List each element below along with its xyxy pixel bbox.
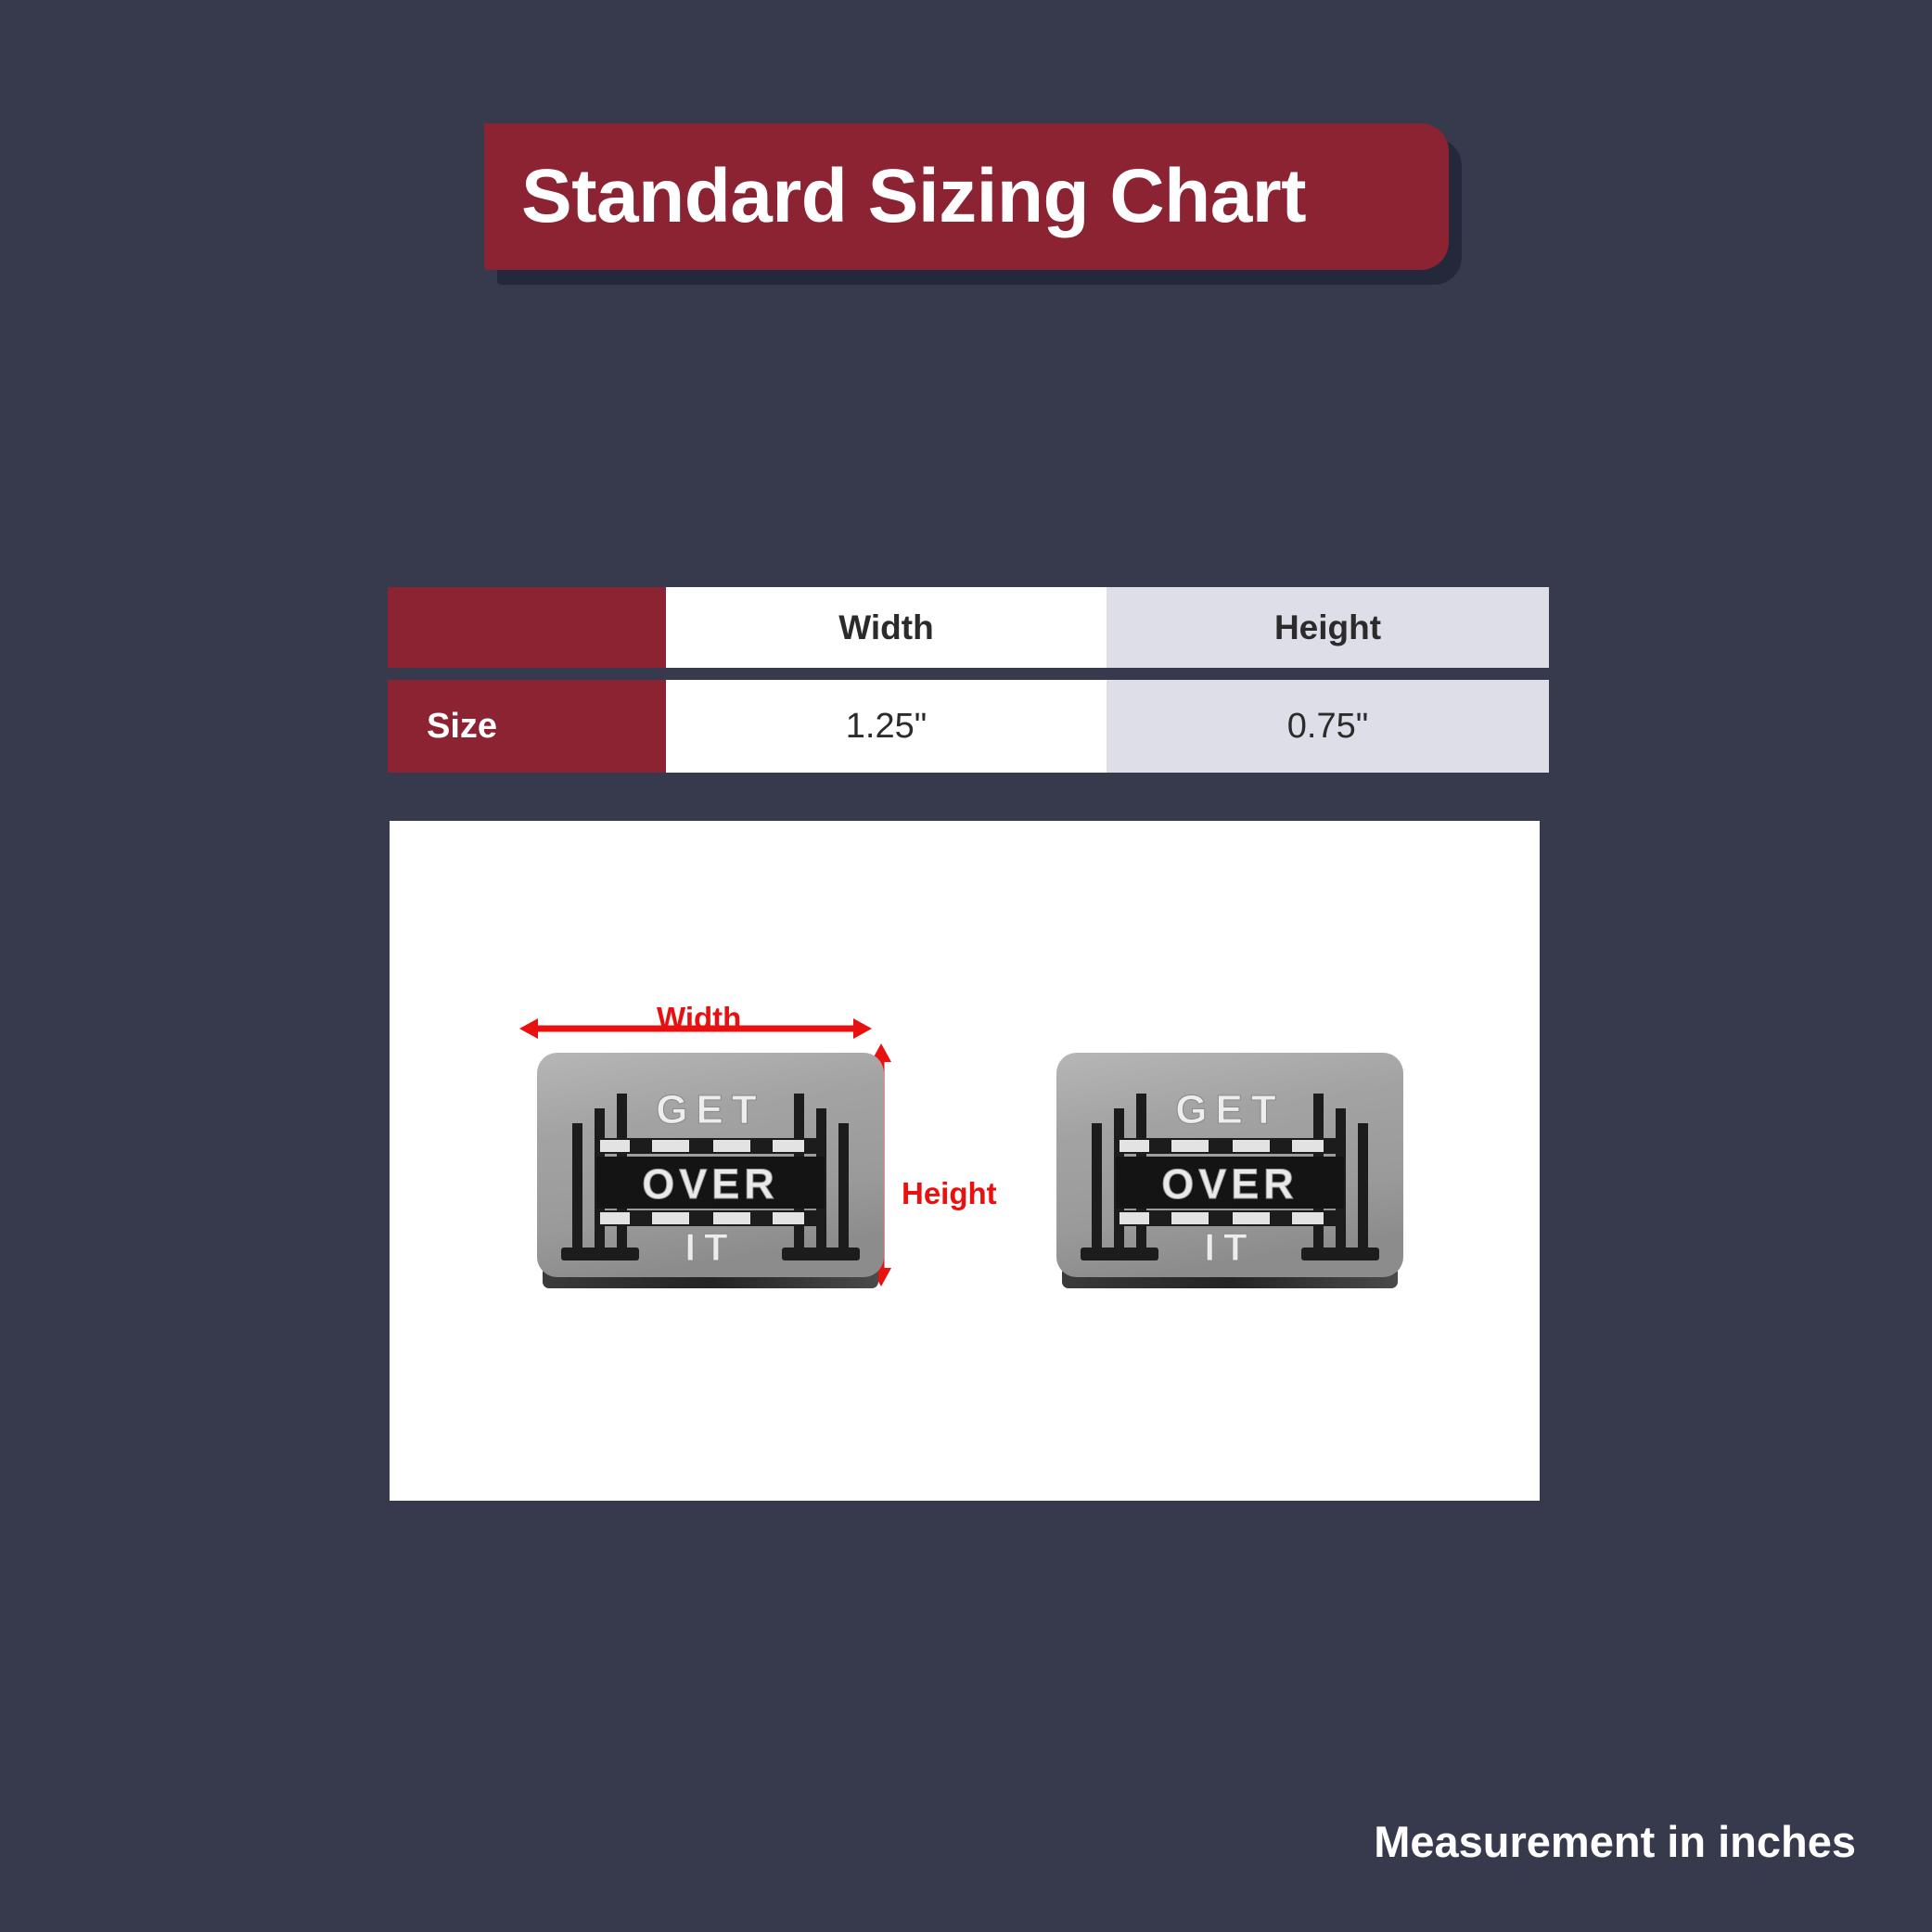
cell-size-height: 0.75" (1107, 680, 1549, 773)
svg-text:GET: GET (1175, 1087, 1284, 1132)
table-row: Size 1.25" 0.75" (388, 680, 1549, 773)
sizing-chart-page: Standard Sizing Chart Width Height Size … (0, 0, 1932, 1932)
svg-text:OVER: OVER (642, 1160, 779, 1208)
table-header-row: Width Height (388, 587, 1549, 668)
measurement-unit-note: Measurement in inches (1374, 1816, 1856, 1867)
svg-text:IT: IT (685, 1225, 736, 1269)
svg-text:GET: GET (656, 1087, 764, 1132)
title-banner: Standard Sizing Chart (484, 123, 1449, 270)
product-image-panel: Width Height (390, 821, 1540, 1501)
svg-text:IT: IT (1204, 1225, 1255, 1269)
height-annotation-label: Height (902, 1178, 997, 1209)
table-corner-cell (388, 587, 666, 668)
product-pin-right: GET OVER IT (1053, 1051, 1407, 1297)
cell-size-width: 1.25" (666, 680, 1107, 773)
column-header-width: Width (666, 587, 1107, 668)
table-row-divider (388, 668, 1549, 680)
sizing-table: Width Height Size 1.25" 0.75" (388, 587, 1549, 773)
width-dimension-arrow (519, 1012, 872, 1045)
product-pin-left: GET OVER IT (533, 1051, 888, 1297)
row-label-size: Size (388, 680, 666, 773)
column-header-height: Height (1107, 587, 1549, 668)
svg-text:OVER: OVER (1161, 1160, 1299, 1208)
page-title: Standard Sizing Chart (521, 159, 1306, 235)
